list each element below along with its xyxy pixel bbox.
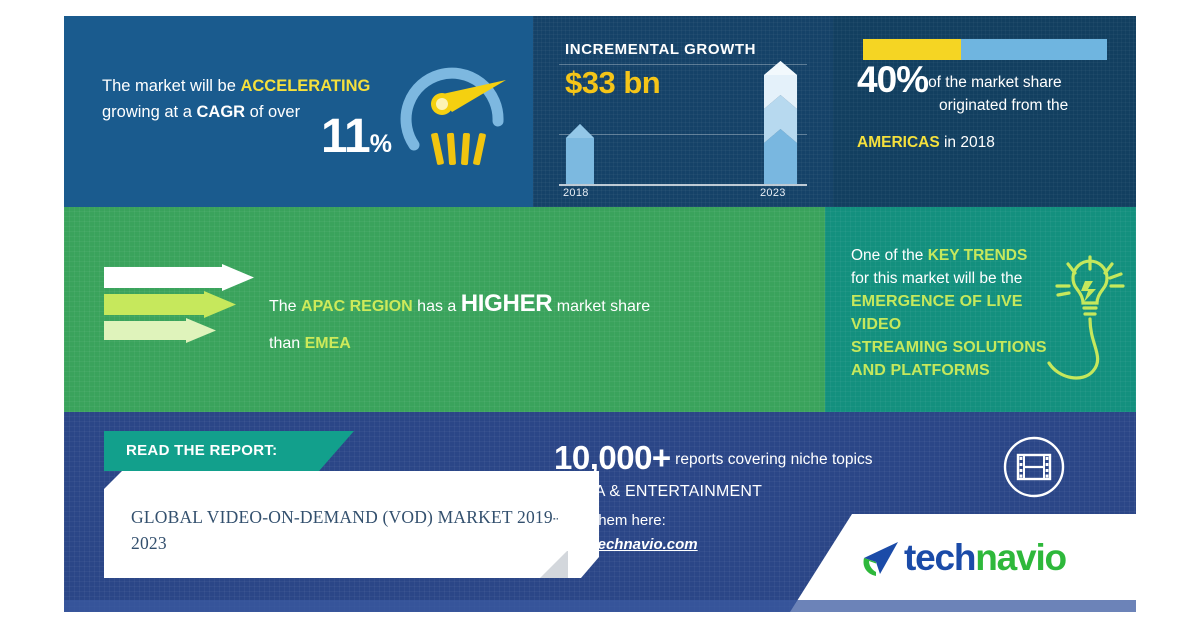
technavio-arrow-logo [856,538,900,582]
region-arrows-group [104,264,264,344]
technavio-wordmark: technavio [904,537,1066,579]
market-share-text-1: of the market share [928,74,1062,91]
cagr-value: 11 [321,110,370,163]
cagr-line2-suffix: of over [245,103,300,121]
cagr-line2-prefix: growing at a [102,103,196,121]
trend-line4: STREAMING SOLUTIONS [851,339,1047,356]
report-category: MEDIA & ENTERTAINMENT [554,483,762,501]
apac-line2-prefix: than [269,335,305,352]
cagr-accelerating-highlight: ACCELERATING [240,77,370,95]
market-share-region: AMERICAS [857,134,940,151]
market-share-text-2: originated from the [939,94,1068,117]
key-trends-statement: One of the KEY TRENDS for this market wi… [851,244,1066,382]
market-share-bar-americas [863,39,961,60]
trend-line5: AND PLATFORMS [851,362,990,379]
footer-bottom-bar [64,600,1136,612]
bar-label-2023: 2023 [760,187,786,199]
apac-region-highlight: APAC REGION [301,298,413,315]
cagr-value-group: 11% [321,109,391,164]
apac-line1-mid: has a [413,298,461,315]
key-trends-panel: One of the KEY TRENDS for this market wi… [825,207,1136,412]
report-title: GLOBAL VIDEO-ON-DEMAND (VOD) MARKET 2019… [131,504,571,556]
speedometer-icon [394,49,520,175]
bar-2023 [764,59,797,184]
technavio-logo[interactable]: technavio [856,534,1088,586]
read-the-report-label: READ THE REPORT: [126,442,277,459]
logo-text-navio: navio [975,537,1066,578]
cagr-line1-prefix: The market will be [102,77,240,95]
apac-line1-prefix: The [269,298,301,315]
trend-key-trends-highlight: KEY TRENDS [928,247,1028,264]
read-them-here-label: Read them here: [554,512,666,529]
reports-count-caption: reports covering niche topics [675,451,872,468]
apac-statement-line1: The APAC REGION has a HIGHER market shar… [269,290,650,318]
cagr-bold-label: CAGR [196,103,245,121]
trend-line1-prefix: One of the [851,247,928,264]
incremental-growth-value: $33 bn [565,65,660,101]
film-strip-icon [1002,435,1066,499]
read-the-report-banner: READ THE REPORT: [104,431,354,471]
market-share-bar [863,39,1107,60]
cagr-panel: The market will be ACCELERATING growing … [64,16,533,207]
footer-row: READ THE REPORT: GLOBAL VIDEO-ON-DEMAND … [64,412,1136,612]
market-share-region-line: AMERICAS in 2018 [857,134,995,152]
cagr-percent-sign: % [370,130,391,158]
apac-higher-word: HIGHER [461,290,553,317]
lightbulb-icon [1047,245,1136,395]
market-share-statement: 40%of the market share originated from t… [857,68,1125,117]
apac-statement-line2: than EMEA [269,335,351,353]
logo-text-tech: tech [904,537,975,578]
market-share-year: in 2018 [940,134,995,151]
reports-count-line: 10,000+ reports covering niche topics [554,439,872,477]
reports-count: 10,000+ [554,439,671,476]
top-row: The market will be ACCELERATING growing … [64,16,1136,207]
market-share-panel: 40%of the market share originated from t… [833,16,1136,207]
apac-emea-highlight: EMEA [305,335,351,352]
apac-line1-suffix: market share [552,298,650,315]
trend-line2: for this market will be the [851,270,1022,287]
trend-line3: EMERGENCE OF LIVE VIDEO [851,293,1023,333]
incremental-growth-title: INCREMENTAL GROWTH [565,41,756,58]
incremental-growth-panel: INCREMENTAL GROWTH $33 bn 2018 [533,16,833,207]
chart-axis [559,184,807,186]
technavio-url-link[interactable]: www.technavio.com [554,536,698,553]
infographic-poster: The market will be ACCELERATING growing … [64,16,1136,612]
report-title-card[interactable]: GLOBAL VIDEO-ON-DEMAND (VOD) MARKET 2019… [104,471,599,578]
middle-row: The APAC REGION has a HIGHER market shar… [64,207,1136,412]
market-share-percent: 40% [857,59,928,100]
bar-2018 [566,124,594,184]
apac-panel: The APAC REGION has a HIGHER market shar… [64,207,825,412]
bar-label-2018: 2018 [563,187,589,199]
